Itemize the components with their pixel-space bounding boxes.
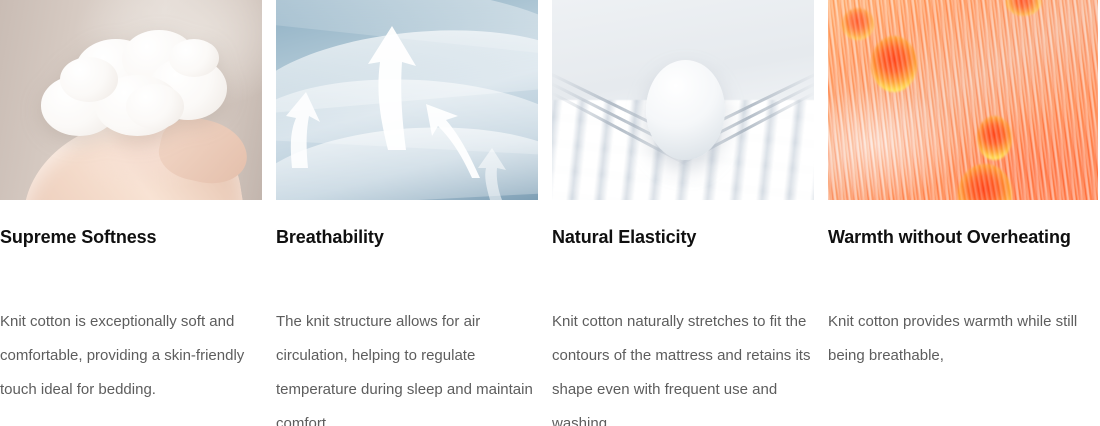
feature-body: Knit cotton naturally stretches to fit t… <box>552 296 814 426</box>
feature-body: Knit cotton is exceptionally soft and co… <box>0 296 262 426</box>
sphere-stretching-fabric-image <box>552 0 814 200</box>
feature-body: The knit structure allows for air circul… <box>276 296 538 426</box>
airflow-arrow-icon <box>276 0 538 200</box>
fiber-sheen <box>828 0 1098 200</box>
feature-heading: Natural Elasticity <box>552 200 814 296</box>
feature-grid: Supreme Softness Knit cotton is exceptio… <box>0 0 1100 426</box>
hand-holding-cotton-cloud-image <box>0 0 262 200</box>
feature-heading: Supreme Softness <box>0 200 262 296</box>
feature-heading: Warmth without Overheating <box>828 200 1098 296</box>
feature-card-natural-elasticity: Natural Elasticity Knit cotton naturally… <box>552 0 814 426</box>
feature-card-breathability: Breathability The knit structure allows … <box>276 0 538 426</box>
feature-card-warmth-without-overheating: Warmth without Overheating Knit cotton p… <box>828 0 1098 426</box>
cotton-cloud-shape <box>37 28 231 140</box>
feature-heading: Breathability <box>276 200 538 296</box>
thermal-fibers-heat-spots-image <box>828 0 1098 200</box>
airflow-arrows-fabric-image <box>276 0 538 200</box>
feature-body: Knit cotton provides warmth while still … <box>828 296 1098 426</box>
pressing-sphere <box>646 60 725 160</box>
feature-card-supreme-softness: Supreme Softness Knit cotton is exceptio… <box>0 0 262 426</box>
